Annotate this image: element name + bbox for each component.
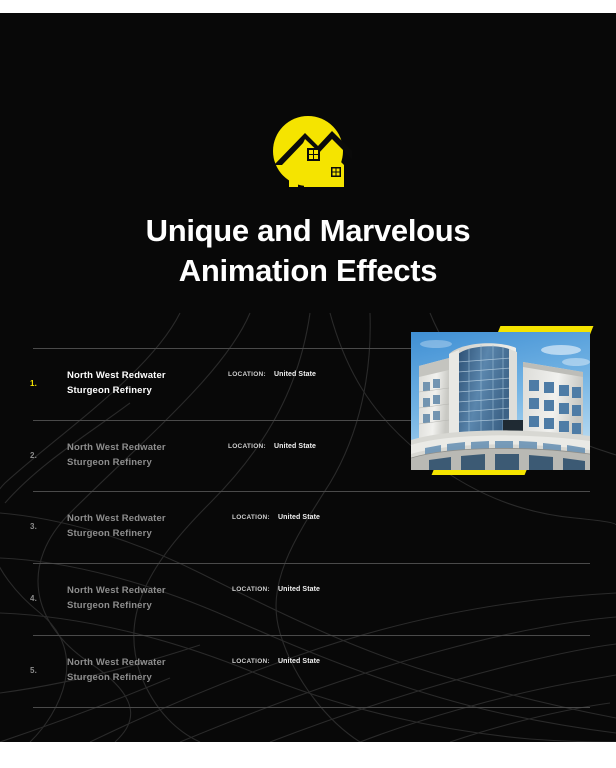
page-title: Unique and Marvelous Animation Effects <box>0 211 616 291</box>
list-item-name-line2: Sturgeon Refinery <box>67 385 152 396</box>
list-item-name: North West RedwaterSturgeon Refinery <box>67 584 217 613</box>
list-item-name-line1: North West Redwater <box>67 585 166 596</box>
logo <box>260 103 360 193</box>
list-item-name-line1: North West Redwater <box>67 657 166 668</box>
list-item[interactable]: 5. North West RedwaterSturgeon Refinery … <box>0 635 616 707</box>
list-item-name-line1: North West Redwater <box>67 442 166 453</box>
list-item-location-value: United State <box>278 658 320 665</box>
list-item-name: North West RedwaterSturgeon Refinery <box>67 512 217 541</box>
list-item-location-value: United State <box>274 371 316 378</box>
list-item-name-line1: North West Redwater <box>67 513 166 524</box>
list-item[interactable]: 3. North West RedwaterSturgeon Refinery … <box>0 491 616 563</box>
page-title-line2: Animation Effects <box>0 251 616 291</box>
list-item-name: North West RedwaterSturgeon Refinery <box>67 441 217 470</box>
list-item-location-value: United State <box>274 443 316 450</box>
window-large <box>307 148 320 161</box>
list-item-name-line1: North West Redwater <box>67 370 166 381</box>
thumbnail-card[interactable] <box>411 332 590 470</box>
list-item-location-label: LOCATION: <box>228 371 266 378</box>
slide-canvas: Unique and Marvelous Animation Effects 1… <box>0 0 616 768</box>
list-item-location-label: LOCATION: <box>228 443 266 450</box>
list-item-location-value: United State <box>278 514 320 521</box>
list-item-name-line2: Sturgeon Refinery <box>67 457 152 468</box>
list-item-number: 4. <box>30 594 37 603</box>
list-item-location-label: LOCATION: <box>232 586 270 593</box>
list-item-name-line2: Sturgeon Refinery <box>67 528 152 539</box>
list-item-location-label: LOCATION: <box>232 514 270 521</box>
list-item-number: 5. <box>30 666 37 675</box>
list-item-location-value: United State <box>278 586 320 593</box>
page-title-line1: Unique and Marvelous <box>0 211 616 251</box>
building-photo <box>411 332 590 470</box>
house-roof-logo-icon <box>260 103 360 193</box>
list-item-name: North West RedwaterSturgeon Refinery <box>67 369 217 398</box>
list-item-number: 1. <box>30 379 37 388</box>
list-item-name-line2: Sturgeon Refinery <box>67 672 152 683</box>
list-divider <box>33 707 590 708</box>
dark-slide-panel: Unique and Marvelous Animation Effects 1… <box>0 13 616 742</box>
list-item-number: 3. <box>30 522 37 531</box>
list-item-name-line2: Sturgeon Refinery <box>67 600 152 611</box>
building-photo-illustration <box>411 332 590 470</box>
list-item-number: 2. <box>30 451 37 460</box>
list-item[interactable]: 4. North West RedwaterSturgeon Refinery … <box>0 563 616 635</box>
list-item-name: North West RedwaterSturgeon Refinery <box>67 656 217 685</box>
list-item-location-label: LOCATION: <box>232 658 270 665</box>
